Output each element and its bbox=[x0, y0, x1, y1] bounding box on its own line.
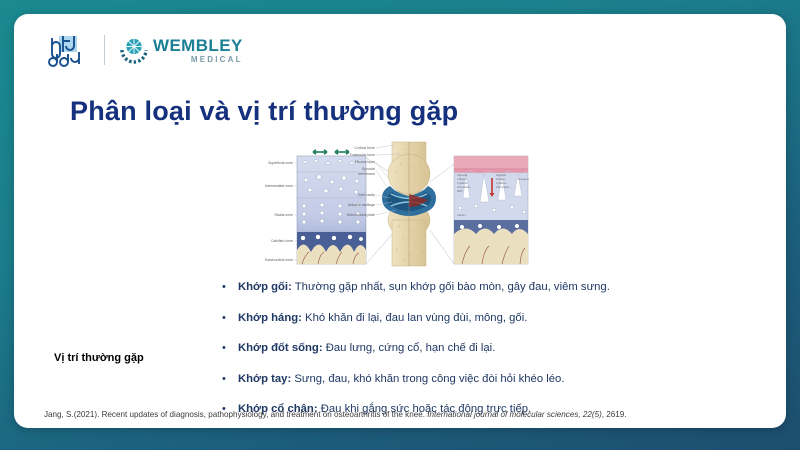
list-item: • Khớp háng: Khó khăn đi lại, đau lan vù… bbox=[222, 311, 762, 325]
list-item-term: Khớp gối: bbox=[238, 281, 292, 293]
wembley-logo: WEMBLEY MEDICAL bbox=[119, 35, 243, 65]
list-item-detail: Khó khăn đi lại, đau lan vùng đùi, mông,… bbox=[302, 312, 527, 324]
brand-name: WEMBLEY bbox=[153, 36, 243, 55]
bfg-monogram-icon bbox=[46, 32, 90, 68]
svg-text:Subchondral plate: Subchondral plate bbox=[347, 213, 375, 217]
svg-text:Proteases: Proteases bbox=[518, 178, 530, 181]
svg-text:Intermediate zone: Intermediate zone bbox=[265, 184, 293, 188]
svg-text:Collagen: Collagen bbox=[457, 178, 467, 181]
brand-subtitle: MEDICAL bbox=[153, 56, 243, 64]
list-item-detail: Sưng, đau, khó khăn trong công việc đòi … bbox=[291, 373, 564, 385]
list-item-text: Khớp đốt sống: Đau lưng, cứng cổ, hạn ch… bbox=[238, 341, 495, 355]
logo-bar: WEMBLEY MEDICAL bbox=[46, 30, 243, 70]
citation: Jang, S.(2021). Recent updates of diagno… bbox=[44, 410, 768, 421]
svg-text:Chemokines: Chemokines bbox=[496, 186, 510, 189]
list-item: • Khớp đốt sống: Đau lưng, cứng cổ, hạn … bbox=[222, 341, 762, 355]
svg-text:membrane: membrane bbox=[358, 172, 375, 176]
svg-text:Aggrecan: Aggrecan bbox=[496, 174, 507, 177]
citation-journal: International journal of molecular scien… bbox=[427, 410, 602, 419]
svg-text:Fibrous layer: Fibrous layer bbox=[355, 160, 376, 164]
page-title: Phân loại và vị trí thường gặp bbox=[70, 96, 458, 127]
wembley-globe-icon bbox=[119, 35, 149, 65]
svg-text:Chemokines: Chemokines bbox=[457, 186, 471, 189]
bullet-marker-icon: • bbox=[222, 282, 238, 293]
svg-text:Superficial zone: Superficial zone bbox=[268, 161, 293, 165]
list-item: • Khớp gối: Thường gặp nhất, sụn khớp gố… bbox=[222, 280, 762, 294]
list-item-term: Khớp tay: bbox=[238, 373, 291, 385]
svg-text:Synovial: Synovial bbox=[362, 167, 375, 171]
bullet-marker-icon: • bbox=[222, 374, 238, 385]
bullet-list: • Khớp gối: Thường gặp nhất, sụn khớp gố… bbox=[222, 280, 762, 428]
svg-text:Calcified zone: Calcified zone bbox=[271, 239, 293, 243]
logo-divider bbox=[104, 35, 105, 65]
svg-text:Trabecular bone: Trabecular bone bbox=[350, 153, 375, 157]
svg-text:Joint cavity: Joint cavity bbox=[358, 193, 376, 197]
bullet-marker-icon: • bbox=[222, 343, 238, 354]
list-item-detail: Đau lưng, cứng cổ, hạn chế đi lại. bbox=[323, 342, 496, 354]
svg-text:Articular cartilage: Articular cartilage bbox=[348, 203, 375, 207]
figure-right-panel: Aggrecan Collagen Cytokines Chemokines M… bbox=[454, 156, 530, 264]
load-arrows-icon bbox=[313, 150, 349, 154]
list-item-detail: Thường gặp nhất, sụn khớp gối bào mòn, g… bbox=[292, 281, 610, 293]
list-item-text: Khớp háng: Khó khăn đi lại, đau lan vùng… bbox=[238, 311, 527, 325]
svg-text:Cytokines: Cytokines bbox=[496, 182, 507, 185]
svg-text:Subchondral bone: Subchondral bone bbox=[265, 258, 293, 262]
list-item-term: Khớp đốt sống: bbox=[238, 342, 323, 354]
list-item: • Khớp tay: Sưng, đau, khó khăn trong cô… bbox=[222, 372, 762, 386]
svg-text:Cytokines: Cytokines bbox=[457, 182, 468, 185]
svg-text:Radial zone: Radial zone bbox=[275, 213, 294, 217]
svg-text:Cortical bone: Cortical bone bbox=[354, 146, 375, 150]
svg-text:Calcium: Calcium bbox=[457, 214, 466, 217]
citation-part1: Jang, S.(2021). Recent updates of diagno… bbox=[44, 410, 427, 419]
list-item-text: Khớp gối: Thường gặp nhất, sụn khớp gối … bbox=[238, 280, 610, 294]
svg-text:Collagen: Collagen bbox=[496, 178, 506, 181]
list-item-term: Khớp háng: bbox=[238, 312, 302, 324]
bullet-marker-icon: • bbox=[222, 313, 238, 324]
svg-text:MMP: MMP bbox=[457, 190, 463, 193]
slide-card: WEMBLEY MEDICAL Phân loại và vị trí thườ… bbox=[14, 14, 786, 428]
citation-part2: , 2619. bbox=[602, 410, 627, 419]
svg-text:Aggrecan: Aggrecan bbox=[457, 174, 468, 177]
list-item-text: Khớp tay: Sưng, đau, khó khăn trong công… bbox=[238, 372, 564, 386]
osteoarthritis-diagram: Superficial zone Intermediate zone Radia… bbox=[240, 134, 532, 274]
section-label-location: Vị trí thường gặp bbox=[54, 352, 144, 364]
